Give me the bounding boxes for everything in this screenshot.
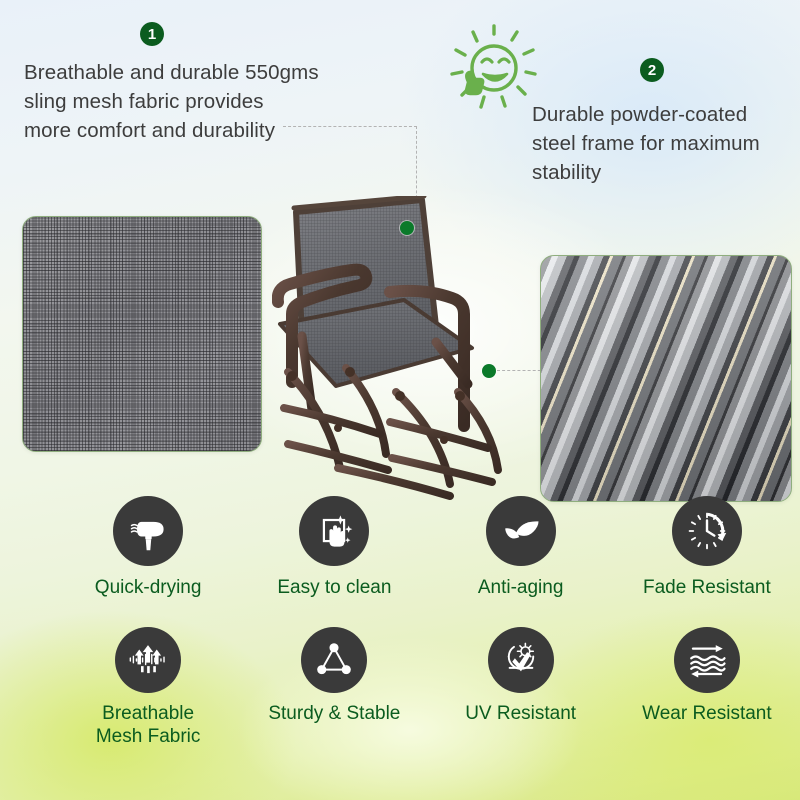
callout-2-line-3: stability [532, 158, 794, 187]
feature-label: UV Resistant [465, 703, 576, 725]
infographic-canvas: 1 Breathable and durable 550gms sling me… [0, 0, 800, 800]
waves-arrows-icon [674, 627, 740, 693]
hotspot-marker-2 [482, 364, 496, 378]
feature-label: Fade Resistant [643, 577, 771, 599]
feature-quick-drying[interactable]: Quick-drying [55, 496, 241, 599]
callout-1-line-3: more comfort and durability [24, 116, 354, 145]
fabric-closeup-image [22, 216, 262, 452]
connector-1-horizontal [283, 126, 417, 127]
callout-1-line-1: Breathable and durable 550gms [24, 58, 354, 87]
airflow-mesh-icon [115, 627, 181, 693]
feature-wear-resistant[interactable]: Wear Resistant [614, 627, 800, 748]
feature-row-1: Quick-drying Easy to clean [0, 496, 800, 599]
feature-label: Sturdy & Stable [268, 703, 400, 725]
callout-2-line-2: steel frame for maximum [532, 129, 794, 158]
callout-1-text: Breathable and durable 550gms sling mesh… [24, 58, 354, 145]
steel-closeup-image [540, 255, 792, 502]
feature-grid: Quick-drying Easy to clean [0, 496, 800, 748]
hair-dryer-icon [113, 496, 183, 566]
callout-1-badge: 1 [140, 22, 164, 46]
feature-label: Breathable Mesh Fabric [96, 703, 201, 748]
feature-label: Wear Resistant [642, 703, 772, 725]
feature-breathable-mesh-fabric[interactable]: Breathable Mesh Fabric [55, 627, 241, 748]
callout-2-badge: 2 [640, 58, 664, 82]
feature-label-line-1: Breathable [96, 703, 201, 725]
feature-row-2: Breathable Mesh Fabric Sturdy & Stable [0, 627, 800, 748]
smiling-sun-thumbs-up-icon [438, 24, 546, 120]
triangle-nodes-icon [301, 627, 367, 693]
feature-fade-resistant[interactable]: Fade Resistant [614, 496, 800, 599]
leaves-icon [486, 496, 556, 566]
product-photo-glider-chair [272, 196, 538, 512]
callout-1-line-2: sling mesh fabric provides [24, 87, 354, 116]
feature-label: Quick-drying [95, 577, 202, 599]
sun-shield-check-icon [488, 627, 554, 693]
feature-sturdy-stable[interactable]: Sturdy & Stable [241, 627, 427, 748]
clock-arrow-icon [672, 496, 742, 566]
wiping-hand-sparkle-icon [299, 496, 369, 566]
feature-easy-to-clean[interactable]: Easy to clean [241, 496, 427, 599]
feature-label: Easy to clean [277, 577, 391, 599]
feature-label-line-2: Mesh Fabric [96, 726, 201, 748]
callout-2-line-1: Durable powder-coated [532, 100, 794, 129]
feature-anti-aging[interactable]: Anti-aging [428, 496, 614, 599]
feature-uv-resistant[interactable]: UV Resistant [428, 627, 614, 748]
callout-2-text: Durable powder-coated steel frame for ma… [532, 100, 794, 187]
hotspot-marker-1 [400, 221, 414, 235]
feature-label: Anti-aging [478, 577, 564, 599]
